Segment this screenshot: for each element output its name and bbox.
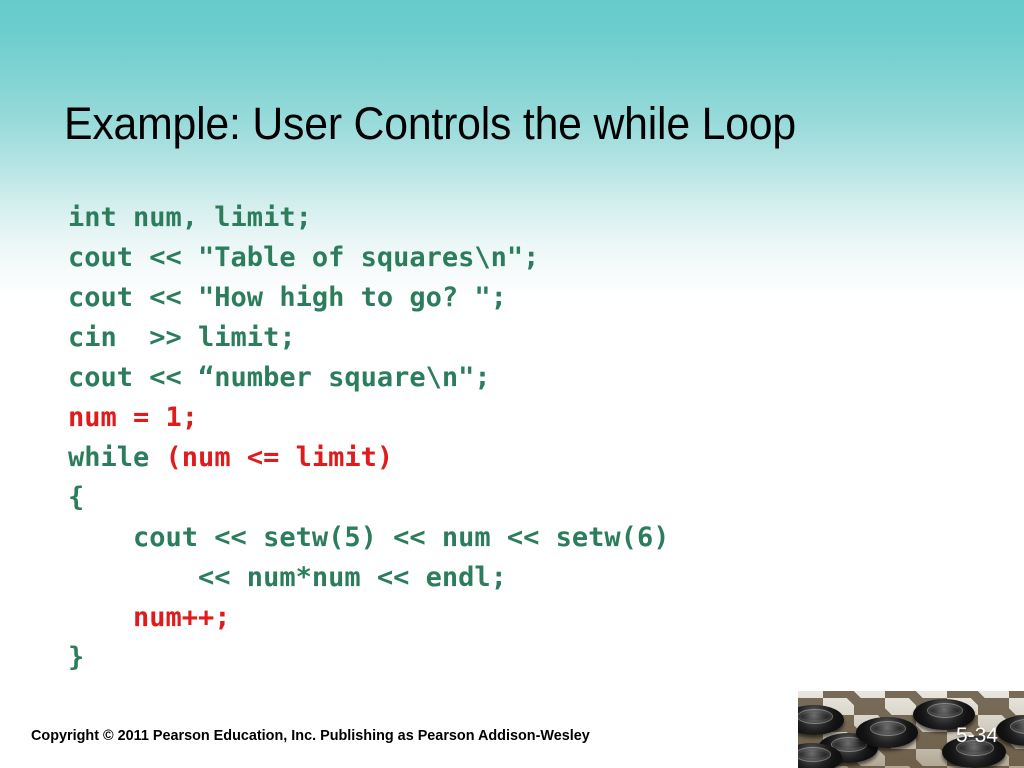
code-token: (num <= limit) (166, 442, 394, 473)
code-line: cout << "How high to go? "; (68, 278, 928, 318)
code-token: cin >> limit; (68, 322, 296, 353)
code-token: } (68, 642, 84, 673)
code-line: cout << "Table of squares\n"; (68, 238, 928, 278)
code-token: << num*num << endl; (68, 562, 507, 593)
checker-piece (798, 705, 844, 735)
code-token: { (68, 482, 84, 513)
page-title: Example: User Controls the while Loop (64, 98, 919, 150)
copyright-text: Copyright © 2011 Pearson Education, Inc.… (31, 726, 590, 745)
code-token: num = 1; (68, 402, 198, 433)
code-line: { (68, 478, 928, 518)
code-token: while (68, 442, 166, 473)
code-token: cout << setw(5) << num << setw(6) (68, 522, 669, 553)
slide-number: 5-34 (956, 724, 998, 748)
code-token: num++; (68, 602, 231, 633)
checker-piece (856, 717, 918, 748)
code-line: << num*num << endl; (68, 558, 928, 598)
code-line: } (68, 638, 928, 678)
checker-piece (996, 715, 1024, 746)
code-line: while (num <= limit) (68, 438, 928, 478)
code-token: cout << “number square\n"; (68, 362, 491, 393)
slide: Example: User Controls the while Loop in… (0, 0, 1024, 768)
code-line: num = 1; (68, 398, 928, 438)
code-token: int num, limit; (68, 202, 312, 233)
code-token: cout << "Table of squares\n"; (68, 242, 539, 273)
code-line: num++; (68, 598, 928, 638)
code-block: int num, limit;cout << "Table of squares… (68, 198, 928, 678)
code-line: int num, limit; (68, 198, 928, 238)
code-line: cout << “number square\n"; (68, 358, 928, 398)
code-line: cout << setw(5) << num << setw(6) (68, 518, 928, 558)
code-line: cin >> limit; (68, 318, 928, 358)
code-token: cout << "How high to go? "; (68, 282, 507, 313)
